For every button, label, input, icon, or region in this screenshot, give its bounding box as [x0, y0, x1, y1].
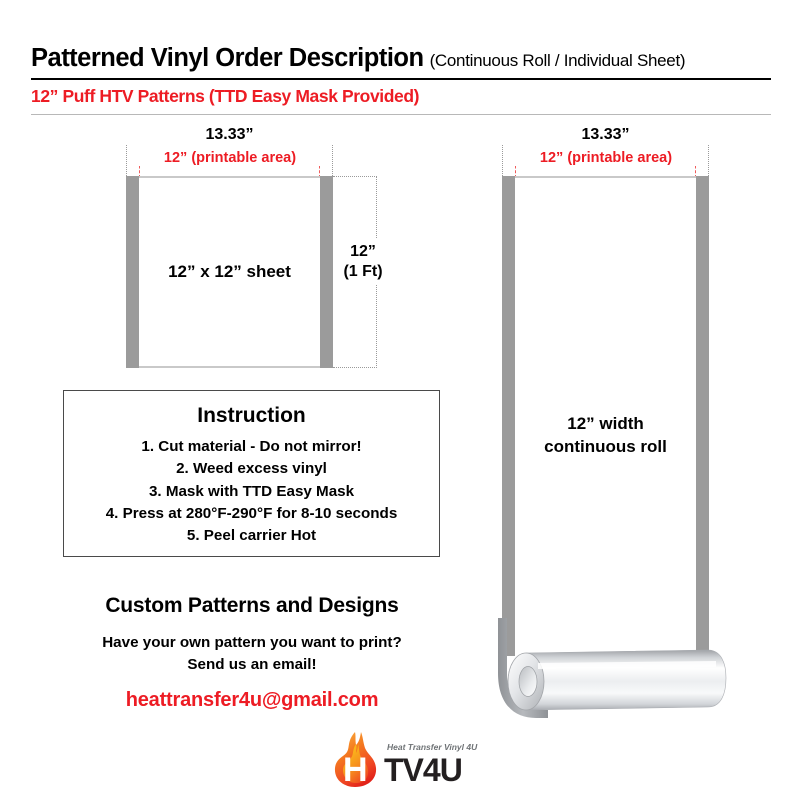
instruction-box: Instruction 1. Cut material - Do not mir… — [63, 390, 440, 557]
custom-patterns-prompt-line2: Send us an email! — [40, 654, 464, 676]
instruction-title: Instruction — [64, 404, 439, 428]
logo-wordmark: TV4U — [384, 752, 462, 788]
roll-outer-width-label: 13.33” — [502, 126, 709, 144]
header-divider-grey — [31, 114, 771, 115]
instruction-step: 5. Peel carrier Hot — [64, 525, 439, 547]
sheet-height-label: 12” (1 Ft) — [333, 238, 393, 285]
roll-margin-band-left — [502, 176, 515, 656]
roll-width-label-line2: continuous roll — [515, 436, 696, 459]
roll-core-hole — [519, 667, 537, 697]
instruction-step-list: 1. Cut material - Do not mirror! 2. Weed… — [64, 436, 439, 548]
header-divider-black — [31, 78, 771, 80]
logo-letter-h: H — [343, 751, 368, 789]
sheet-size-label: 12” x 12” sheet — [139, 262, 320, 282]
poster-page: Patterned Vinyl Order Description (Conti… — [0, 0, 801, 800]
page-title: Patterned Vinyl Order Description — [31, 44, 424, 73]
sheet-height-label-line1: 12” — [333, 242, 393, 262]
roll-printable-area-label: 12” (printable area) — [506, 150, 706, 166]
roll-cylinder-illustration — [478, 618, 738, 738]
logo-tagline: Heat Transfer Vinyl 4U — [387, 742, 478, 752]
brand-logo: H Heat Transfer Vinyl 4U TV4U — [330, 728, 490, 790]
instruction-step: 2. Weed excess vinyl — [64, 458, 439, 480]
instruction-step: 4. Press at 280°F-290°F for 8-10 seconds — [64, 503, 439, 525]
page-subtitle-paren: (Continuous Roll / Individual Sheet) — [430, 51, 686, 71]
roll-width-label: 12” width continuous roll — [515, 413, 696, 459]
custom-patterns-block: Custom Patterns and Designs Have your ow… — [40, 594, 464, 712]
roll-cylinder-body — [526, 650, 726, 710]
sheet-height-label-line2: (1 Ft) — [333, 262, 393, 282]
roll-margin-band-right — [696, 176, 709, 656]
instruction-step: 3. Mask with TTD Easy Mask — [64, 481, 439, 503]
sheet-margin-band-right — [320, 176, 333, 368]
custom-patterns-prompt-line1: Have your own pattern you want to print? — [40, 632, 464, 654]
sheet-outer-width-label: 13.33” — [126, 126, 333, 144]
contact-email[interactable]: heattransfer4u@gmail.com — [40, 689, 464, 712]
roll-width-label-line1: 12” width — [515, 413, 696, 436]
sheet-margin-band-left — [126, 176, 139, 368]
instruction-step: 1. Cut material - Do not mirror! — [64, 436, 439, 458]
custom-patterns-prompt: Have your own pattern you want to print?… — [40, 632, 464, 676]
logo-svg: H Heat Transfer Vinyl 4U TV4U — [330, 728, 490, 790]
sheet-printable-area-label: 12” (printable area) — [130, 150, 330, 166]
section-subtitle: 12” Puff HTV Patterns (TTD Easy Mask Pro… — [31, 86, 419, 107]
header: Patterned Vinyl Order Description (Conti… — [31, 44, 771, 73]
custom-patterns-title: Custom Patterns and Designs — [40, 594, 464, 618]
title-row: Patterned Vinyl Order Description (Conti… — [31, 44, 771, 73]
